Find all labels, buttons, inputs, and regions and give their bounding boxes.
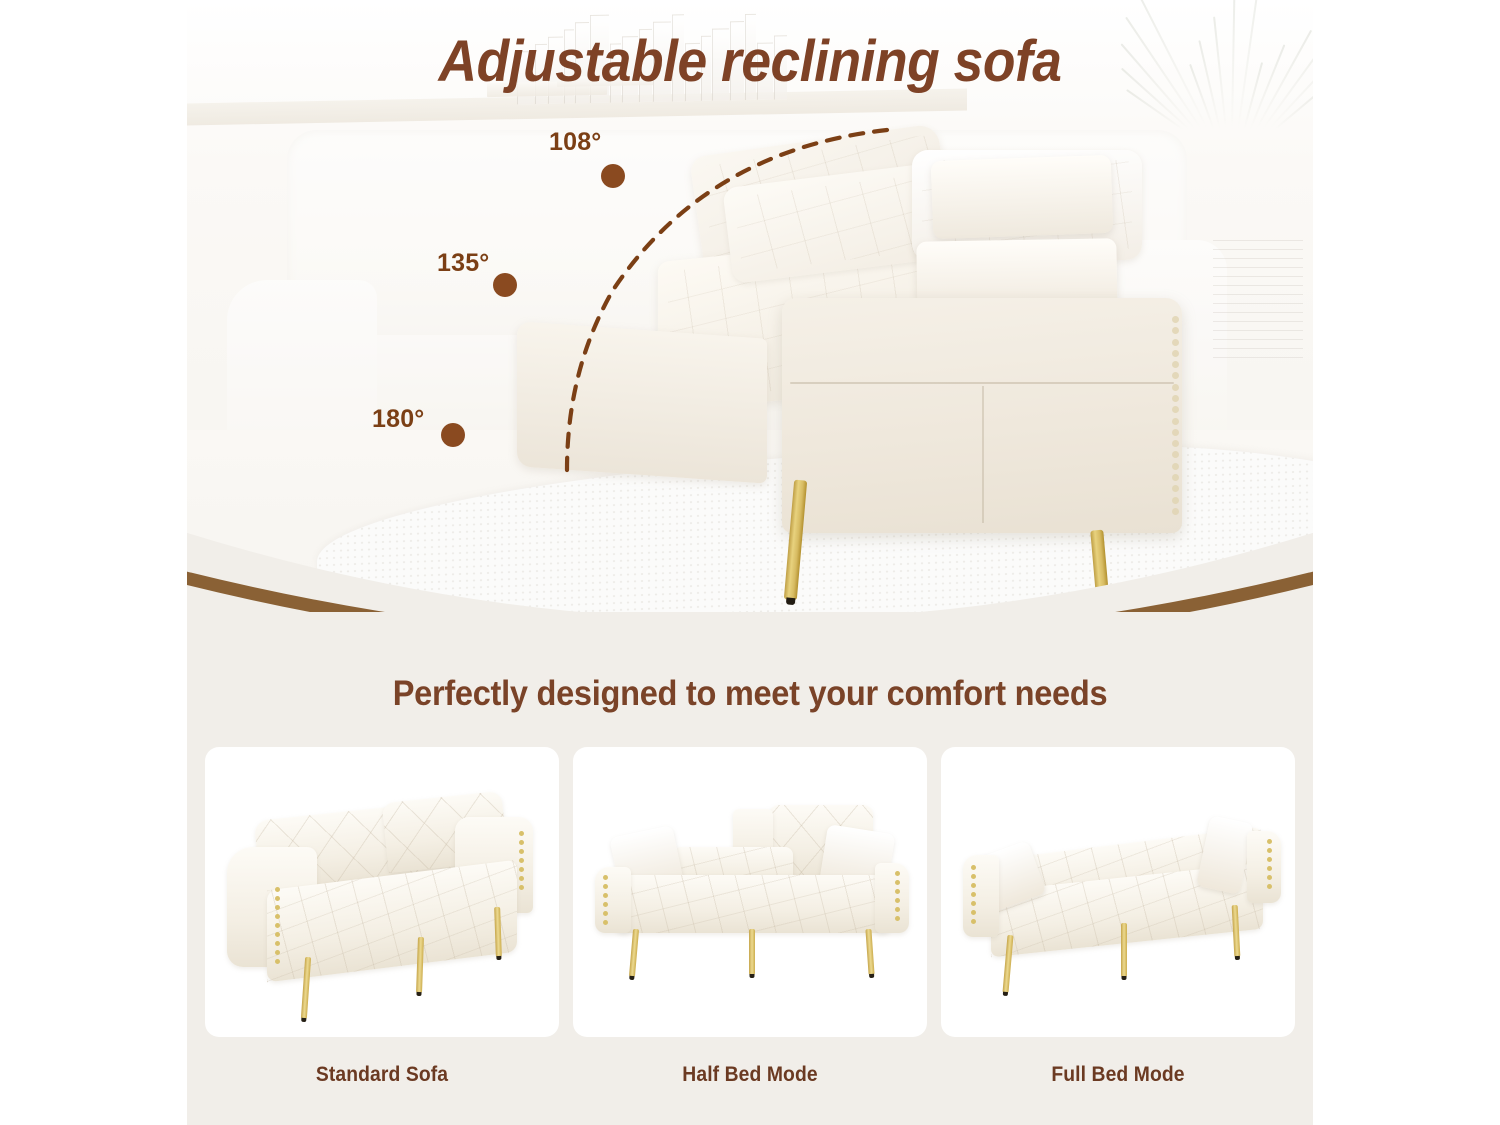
half-bed-illustration — [573, 747, 927, 1037]
mode-card-caption: Full Bed Mode — [955, 1063, 1281, 1087]
mode-card-standard-sofa[interactable]: Standard Sofa — [205, 747, 559, 1087]
sofa-seat-front — [517, 321, 767, 483]
full-bed-nailhead-right — [1267, 839, 1272, 889]
product-infographic-page: 108°135°180° Perfectly designed to meet … — [0, 0, 1500, 1125]
angle-label-1: 135° — [437, 249, 490, 278]
mode-card-image-full-bed — [941, 747, 1295, 1037]
half-bed-leg-3 — [865, 929, 874, 975]
standard-sofa-illustration — [205, 747, 559, 1037]
page-title: Adjustable reclining sofa — [60, 28, 1440, 95]
standard-nailhead-trim — [275, 887, 280, 964]
standard-nailhead-trim-right — [519, 831, 524, 890]
half-bed-right-arm — [875, 863, 909, 933]
hero-image: 108°135°180° — [187, 0, 1313, 640]
mode-card-image-half-bed — [573, 747, 927, 1037]
angle-label-2: 180° — [372, 405, 425, 434]
half-bed-nailhead-right — [895, 871, 900, 921]
content-column: 108°135°180° Perfectly designed to meet … — [187, 0, 1313, 1125]
half-bed-leg-1 — [629, 929, 639, 977]
mode-card-image-standard — [205, 747, 559, 1037]
standard-leg-2 — [416, 937, 424, 993]
sofa-pillow-upper — [931, 155, 1114, 239]
full-bed-right-arm — [1247, 831, 1281, 903]
full-bed-left-arm — [963, 855, 999, 937]
mode-card-full-bed-mode[interactable]: Full Bed Mode — [941, 747, 1295, 1087]
mode-card-list: Standard Sofa — [205, 747, 1295, 1087]
reclining-sofa-illustration — [517, 140, 1217, 560]
half-bed-nailhead-left — [603, 875, 608, 925]
half-bed-seat — [615, 875, 891, 933]
section-subtitle: Perfectly designed to meet your comfort … — [226, 674, 1273, 714]
background-stacked-objects — [1213, 240, 1303, 390]
comfort-modes-section: Perfectly designed to meet your comfort … — [187, 612, 1313, 1125]
mode-card-caption: Half Bed Mode — [587, 1063, 913, 1087]
full-bed-illustration — [941, 747, 1295, 1037]
mode-card-caption: Standard Sofa — [219, 1063, 545, 1087]
angle-label-0: 108° — [549, 128, 602, 157]
full-bed-nailhead-left — [971, 865, 976, 924]
half-bed-leg-2 — [749, 929, 755, 975]
full-bed-leg-2 — [1121, 923, 1127, 977]
half-bed-left-arm — [595, 867, 631, 933]
mode-card-half-bed-mode[interactable]: Half Bed Mode — [573, 747, 927, 1087]
sofa-back-panel — [782, 298, 1182, 533]
